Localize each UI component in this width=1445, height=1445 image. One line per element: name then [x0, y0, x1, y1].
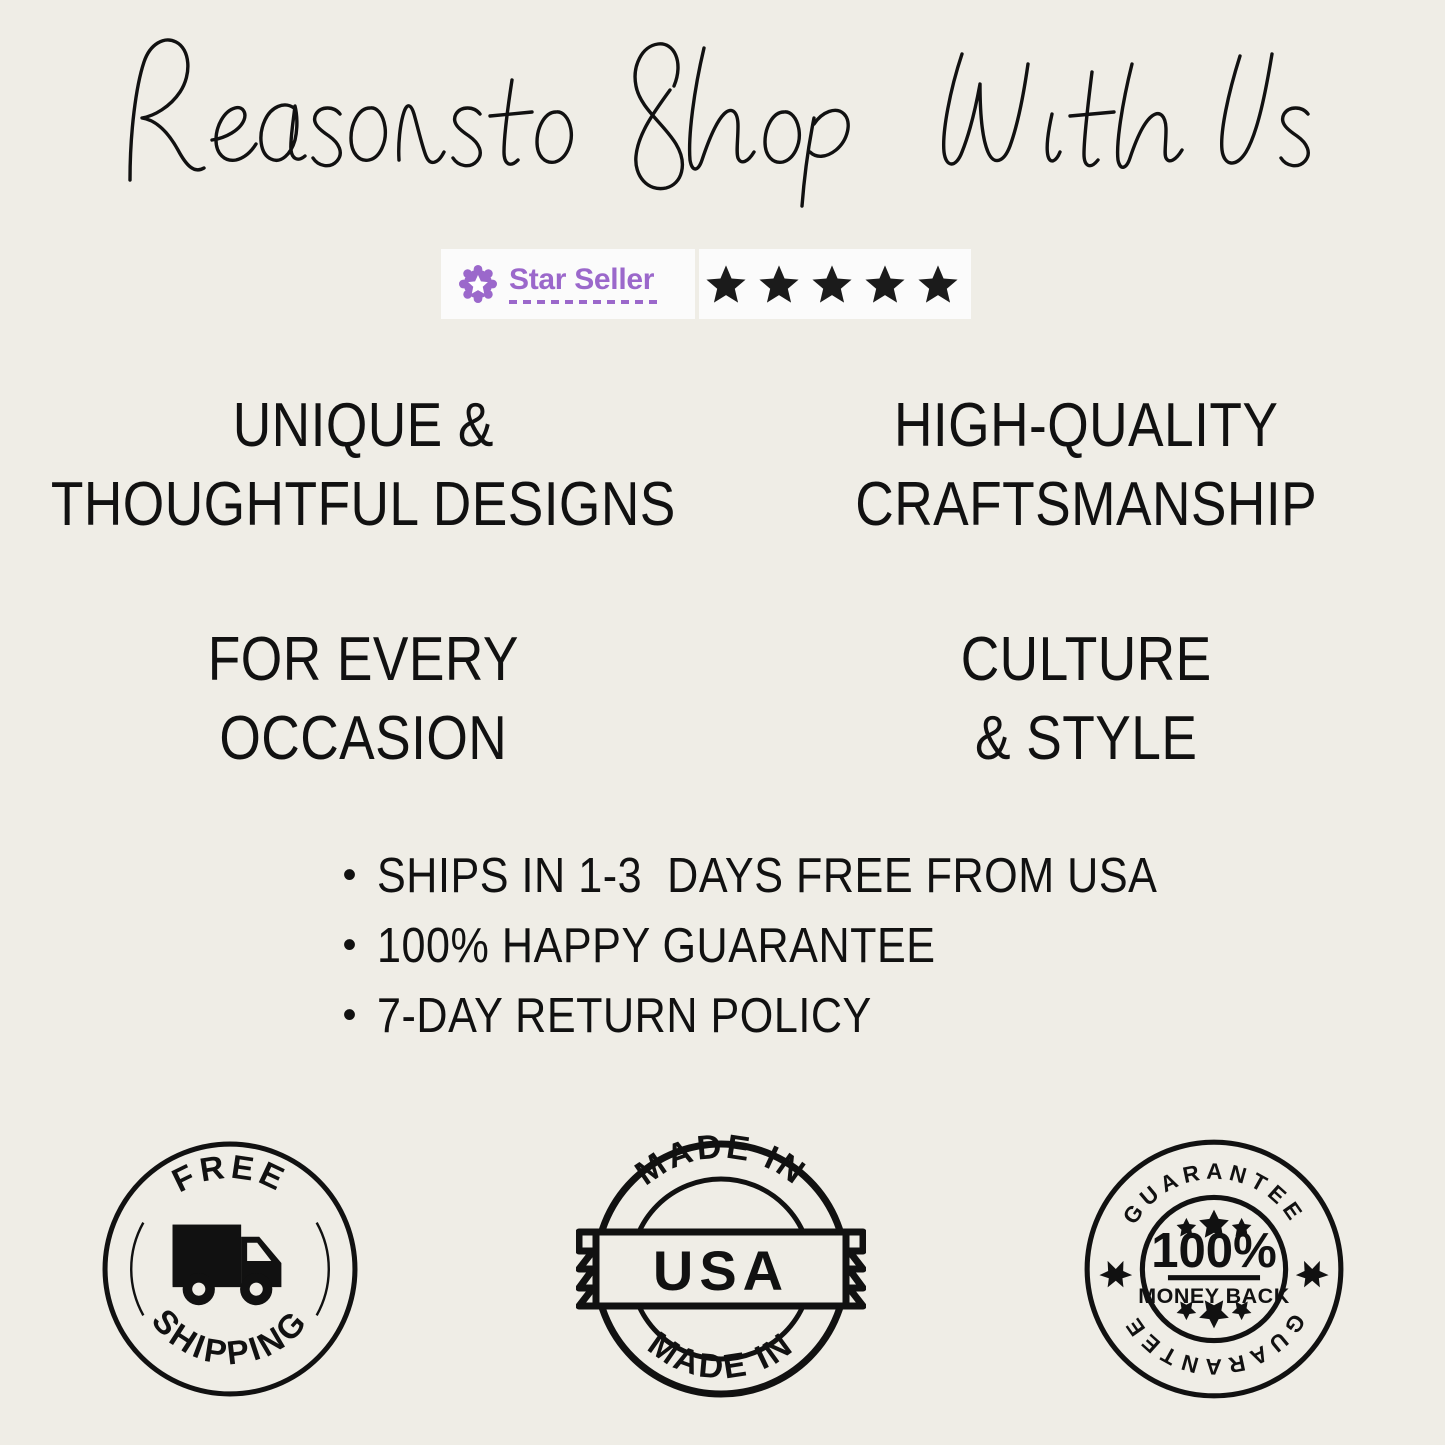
- free-shipping-seal: FREE SHIPPING: [99, 1138, 361, 1400]
- feature-line: UNIQUE &: [51, 386, 676, 465]
- list-item-label: 7-DAY RETURN POLICY: [377, 988, 872, 1044]
- star-seller-dashed-underline: [509, 300, 661, 304]
- star-icon: [756, 261, 802, 307]
- usa-ribbon-text: USA: [652, 1239, 788, 1302]
- guarantee-subtext: MONEY BACK: [1138, 1284, 1289, 1308]
- feature-line: CULTURE: [777, 620, 1395, 699]
- features-grid: UNIQUE & THOUGHTFUL DESIGNS HIGH-QUALITY…: [0, 386, 1445, 778]
- star-seller-label-panel: Star Seller: [441, 249, 695, 319]
- feature-line: FOR EVERY: [51, 620, 676, 699]
- usa-ribbon: USA: [579, 1232, 863, 1306]
- feature-culture-and-style: CULTURE & STYLE: [777, 620, 1395, 779]
- bullet-marker: •: [343, 995, 377, 1035]
- money-back-guarantee-seal: GUARANTEE GUARANTEE 100% MONEY BACK: [1081, 1136, 1347, 1402]
- page-title: [0, 28, 1445, 213]
- page-title-script: [108, 28, 1338, 213]
- made-in-usa-top-text: MADE IN: [628, 1127, 814, 1193]
- star-seller-badge: Star Seller: [441, 249, 971, 319]
- list-item: • 100% HAPPY GUARANTEE: [343, 918, 1103, 974]
- guarantee-divider: [1167, 1275, 1259, 1280]
- list-item: • 7-DAY RETURN POLICY: [343, 988, 1103, 1044]
- list-item: • SHIPS IN 1-3 DAYS FREE FROM USA: [343, 848, 1103, 904]
- trust-seals: FREE SHIPPING MADE IN MADE IN: [0, 1124, 1445, 1414]
- star-icon: [862, 261, 908, 307]
- feature-line: HIGH-QUALITY: [777, 386, 1395, 465]
- feature-high-quality-craftsmanship: HIGH-QUALITY CRAFTSMANSHIP: [777, 386, 1395, 545]
- feature-for-every-occasion: FOR EVERY OCCASION: [51, 620, 676, 779]
- list-item-label: SHIPS IN 1-3 DAYS FREE FROM USA: [377, 848, 1157, 904]
- feature-line: THOUGHTFUL DESIGNS: [51, 465, 676, 544]
- feature-unique-thoughtful-designs: UNIQUE & THOUGHTFUL DESIGNS: [51, 386, 676, 545]
- bullet-marker: •: [343, 925, 377, 965]
- bullet-marker: •: [343, 855, 377, 895]
- feature-line: OCCASION: [51, 699, 676, 778]
- star-icon: [809, 261, 855, 307]
- guarantee-percent: 100%: [1151, 1224, 1277, 1278]
- delivery-truck-icon: [172, 1225, 281, 1306]
- star-seller-label: Star Seller: [509, 265, 654, 295]
- star-icon: [1099, 1261, 1132, 1288]
- made-in-usa-seal: MADE IN MADE IN USA: [576, 1124, 866, 1414]
- star-seal-icon: [459, 265, 497, 303]
- list-item-label: 100% HAPPY GUARANTEE: [377, 918, 936, 974]
- star-seller-rating: [699, 249, 971, 319]
- free-shipping-bottom-text: SHIPPING: [144, 1302, 316, 1372]
- free-shipping-top-text: FREE: [166, 1149, 293, 1200]
- benefits-list: • SHIPS IN 1-3 DAYS FREE FROM USA • 100%…: [0, 848, 1445, 1058]
- feature-line: CRAFTSMANSHIP: [777, 465, 1395, 544]
- star-icon: [915, 261, 961, 307]
- star-icon: [703, 261, 749, 307]
- feature-line: & STYLE: [777, 699, 1395, 778]
- star-icon: [1295, 1261, 1328, 1288]
